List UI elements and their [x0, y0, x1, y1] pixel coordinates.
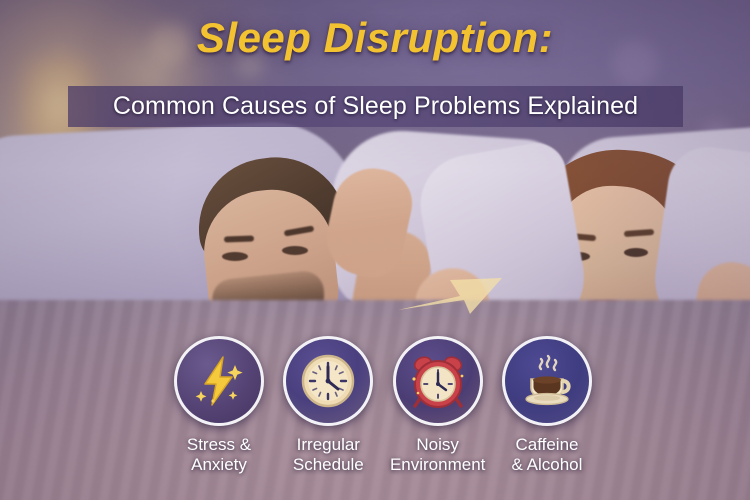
page-title: Sleep Disruption: [0, 14, 750, 62]
woman-eye [624, 248, 648, 257]
coffee-cup-icon [502, 336, 592, 426]
cause-item-noise[interactable]: Noisy Environment [387, 336, 489, 475]
cause-item-schedule[interactable]: Irregular Schedule [277, 336, 379, 475]
man-eye [222, 252, 248, 261]
man-eye [282, 246, 308, 255]
man-eyebrow [224, 235, 254, 242]
cause-item-stress[interactable]: Stress & Anxiety [168, 336, 270, 475]
cause-label: Noisy Environment [390, 435, 485, 475]
wall-clock-icon [283, 336, 373, 426]
alarm-clock-icon [393, 336, 483, 426]
cause-label: Irregular Schedule [293, 435, 364, 475]
cause-item-caffeine[interactable]: Caffeine & Alcohol [496, 336, 598, 475]
cause-label: Caffeine & Alcohol [512, 435, 583, 475]
page-subtitle: Common Causes of Sleep Problems Explaine… [68, 86, 683, 127]
causes-row: Stress & Anxiety [168, 336, 598, 486]
infographic-canvas: Sleep Disruption: Common Causes of Sleep… [0, 0, 750, 500]
lightning-bolt-icon [174, 336, 264, 426]
cause-label: Stress & Anxiety [187, 435, 251, 475]
